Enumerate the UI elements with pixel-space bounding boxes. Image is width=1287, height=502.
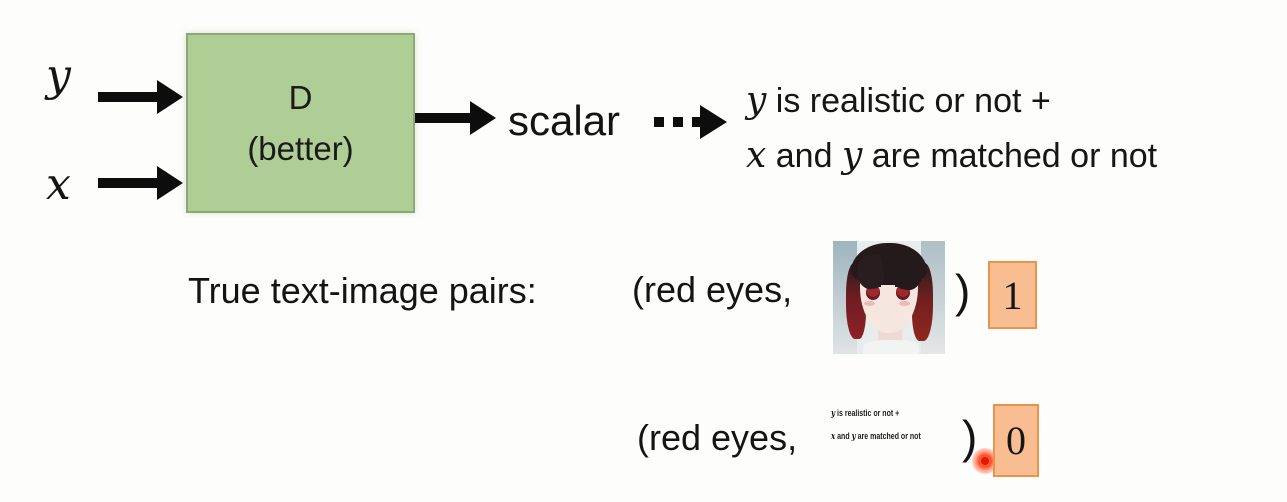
tiny-text-snippet: y is realistic or not + x and y are matc… (831, 402, 914, 448)
output-desc-var-x: x (746, 135, 766, 176)
dotted-arrow-dot (654, 117, 664, 127)
output-desc-text-and: and (766, 137, 842, 175)
arrow-head (470, 101, 496, 135)
laser-pointer-core (979, 455, 991, 467)
arrow-head (157, 80, 183, 114)
blush-right (899, 301, 910, 306)
arrow-shaft (98, 92, 160, 102)
arrow-head (700, 105, 727, 139)
output-description: y is realistic or not + x and y are matc… (746, 74, 1286, 184)
output-desc-text-2: are matched or not (862, 137, 1157, 175)
score-badge-0: 0 (993, 404, 1039, 477)
dotted-arrow-dot (673, 117, 683, 127)
blush-left (864, 301, 875, 306)
scalar-label: scalar (508, 97, 620, 145)
input-variable-y: y (46, 54, 71, 98)
arrow-x-to-discriminator (98, 166, 183, 200)
discriminator-label-line2: (better) (188, 123, 413, 174)
arrow-shaft (98, 178, 160, 188)
arrow-head (157, 166, 183, 200)
output-description-line-1: y is realistic or not + (746, 74, 1286, 129)
input-variable-x: x (46, 163, 71, 207)
tiny-text-1: is realistic or not + (835, 408, 899, 418)
pair-row-2-open-text: (red eyes, (637, 420, 797, 456)
tiny-text-line-1: y is realistic or not + (831, 402, 914, 425)
arrow-discriminator-to-scalar (415, 101, 500, 135)
pair-row-1-close-paren: ) (955, 268, 970, 314)
arrow-y-to-discriminator (98, 80, 183, 114)
score-badge-1: 1 (988, 261, 1037, 329)
collar (863, 340, 919, 354)
pair-row-1-open-text: (red eyes, (632, 272, 792, 308)
slide-canvas: y x D (better) scalar y is realistic or … (0, 0, 1287, 502)
output-desc-text-1: is realistic or not + (766, 82, 1050, 120)
true-text-image-pairs-label: True text-image pairs: (188, 270, 537, 312)
output-description-line-2: x and y are matched or not (746, 129, 1286, 184)
tiny-text-line-2: x and y are matched or not (831, 425, 914, 448)
arrow-shaft (415, 113, 473, 123)
tiny-text-and: and (835, 431, 851, 441)
output-desc-var-y2: y (842, 135, 862, 176)
discriminator-box-label: D (better) (188, 72, 413, 174)
tiny-text-2: are matched or not (856, 431, 921, 441)
discriminator-box: D (better) (186, 33, 415, 213)
discriminator-label-line1: D (188, 72, 413, 123)
anime-portrait-thumbnail (833, 241, 945, 354)
output-desc-var-y: y (746, 80, 766, 121)
dotted-arrow-scalar-to-description (654, 105, 734, 139)
